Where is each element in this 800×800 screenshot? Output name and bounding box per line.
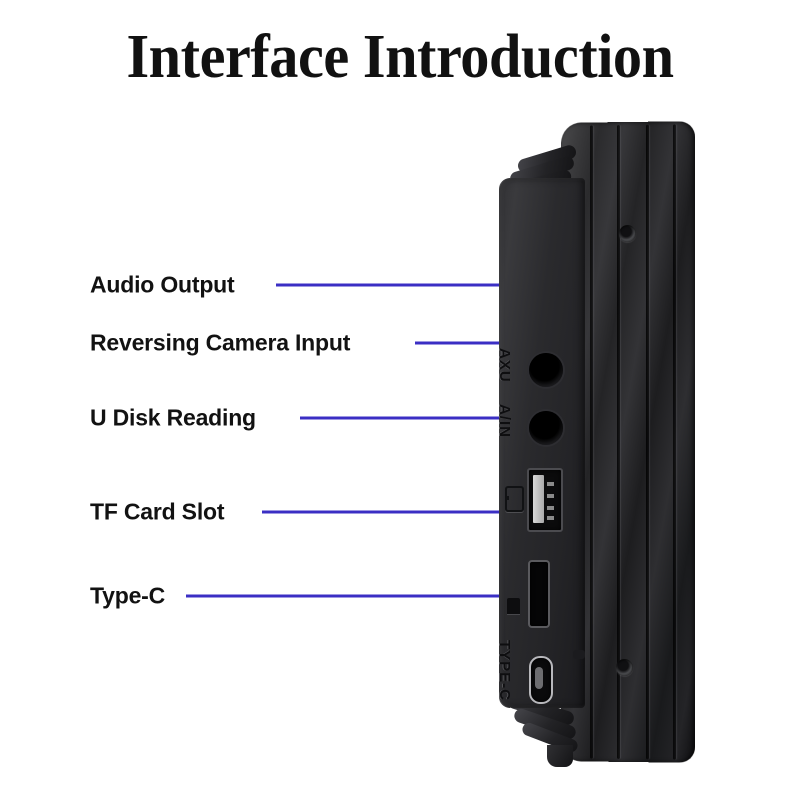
device-illustration: AXU A/IN TYPE-C — [455, 100, 705, 780]
silkscreen-aux-label: AXU — [496, 348, 513, 383]
port-usb-c[interactable] — [529, 656, 553, 704]
callout-label-tf-card-slot: TF Card Slot — [90, 499, 224, 526]
heat-fin — [673, 124, 676, 759]
silkscreen-type-c-label: TYPE-C — [496, 640, 513, 701]
heat-fin — [590, 125, 593, 758]
interface-introduction-diagram: Interface Introduction Audio Output Reve… — [0, 0, 800, 800]
usb-tongue — [533, 475, 544, 523]
device-port-face: AXU A/IN TYPE-C — [499, 178, 585, 708]
device-foot — [547, 745, 573, 767]
port-aux-jack[interactable] — [529, 353, 563, 387]
callout-label-audio-output: Audio Output — [90, 272, 235, 299]
silkscreen-av-in-label: A/IN — [496, 404, 513, 438]
port-tf-card-slot[interactable] — [528, 560, 550, 628]
sd-card-icon — [507, 598, 520, 614]
case-nub — [573, 650, 585, 659]
usb-pin — [547, 482, 554, 486]
screw-hole-bottom — [616, 659, 633, 676]
screw-hole-top — [619, 225, 636, 242]
callout-label-reversing-camera-input: Reversing Camera Input — [90, 330, 350, 357]
callout-label-type-c: Type-C — [90, 583, 165, 610]
usb-icon — [505, 486, 524, 512]
callout-label-u-disk-reading: U Disk Reading — [90, 405, 256, 432]
port-av-in-jack[interactable] — [529, 411, 563, 445]
usb-pin — [547, 494, 554, 498]
usb-pin — [547, 506, 554, 510]
usb-c-tongue — [535, 667, 543, 689]
page-title: Interface Introduction — [24, 22, 776, 93]
port-usb-a[interactable] — [527, 468, 563, 532]
usb-pin — [547, 516, 554, 520]
heat-fin — [646, 125, 649, 760]
